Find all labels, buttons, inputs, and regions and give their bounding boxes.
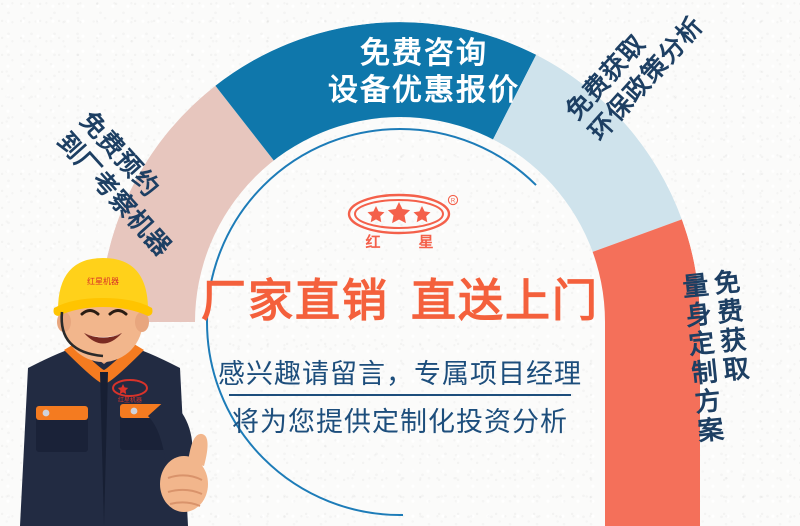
- smiling-worker-thumbs-up: 红星机器 红星机器: [8, 248, 224, 526]
- subtext-divider: [229, 394, 571, 396]
- svg-text:红星机器: 红星机器: [118, 396, 142, 404]
- brand-logo: R 红 星: [341, 190, 461, 252]
- svg-text:星: 星: [418, 234, 433, 251]
- worker-illustration-icon: 红星机器 红星机器: [8, 248, 224, 526]
- headline-part2: 直送上门: [411, 275, 599, 326]
- arc-label-free-consultation-quote: 免费咨询 设备优惠报价: [328, 36, 520, 109]
- headline-part1: 厂家直销: [201, 275, 389, 326]
- seg2-line1: 免费咨询: [328, 36, 520, 73]
- svg-text:红: 红: [365, 233, 380, 251]
- svg-text:R: R: [451, 199, 456, 205]
- seg2-line2: 设备优惠报价: [328, 73, 520, 110]
- promo-banner: 免费预约 到厂考察机器 免费咨询 设备优惠报价 免费获取 环保政策分析 免费获取…: [0, 0, 800, 526]
- hongxing-logo-icon: R 红 星: [341, 190, 461, 252]
- svg-text:红星机器: 红星机器: [87, 276, 119, 286]
